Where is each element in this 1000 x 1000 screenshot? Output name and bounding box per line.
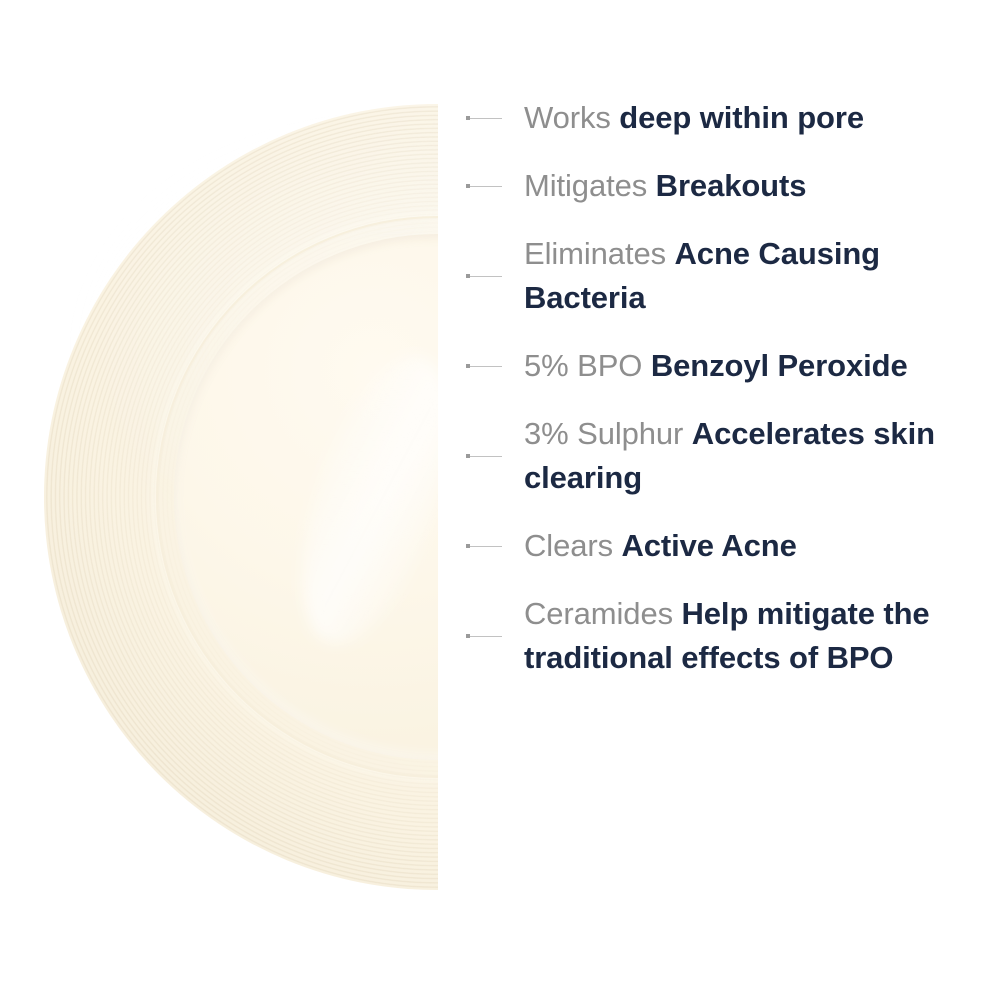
feature-label: Works — [524, 100, 611, 135]
feature-label: Ceramides — [524, 596, 673, 631]
product-benefits-infographic: Works deep within pore Mitigates Breakou… — [0, 0, 1000, 1000]
feature-item: Works deep within pore — [460, 96, 1000, 140]
feature-text: Ceramides Help mitigate the traditional … — [524, 592, 1000, 680]
feature-text: 3% Sulphur Accelerates skin clearing — [524, 412, 1000, 500]
feature-value: deep within pore — [619, 100, 864, 135]
feature-text: Works deep within pore — [524, 96, 1000, 140]
dash-marker-icon — [460, 630, 502, 642]
feature-text: Mitigates Breakouts — [524, 164, 1000, 208]
jar-specular-highlight — [272, 338, 438, 660]
dash-marker-icon — [460, 112, 502, 124]
dash-marker-icon — [460, 270, 502, 282]
dash-marker-icon — [460, 360, 502, 372]
feature-item: 5% BPO Benzoyl Peroxide — [460, 344, 1000, 388]
feature-label: Clears — [524, 528, 613, 563]
feature-text: Clears Active Acne — [524, 524, 1000, 568]
feature-text: 5% BPO Benzoyl Peroxide — [524, 344, 1000, 388]
dash-marker-icon — [460, 180, 502, 192]
dash-marker-icon — [460, 450, 502, 462]
feature-label: Mitigates — [524, 168, 647, 203]
feature-text: Eliminates Acne Causing Bacteria — [524, 232, 1000, 320]
feature-item: Ceramides Help mitigate the traditional … — [460, 592, 1000, 680]
feature-item: Eliminates Acne Causing Bacteria — [460, 232, 1000, 320]
feature-item: 3% Sulphur Accelerates skin clearing — [460, 412, 1000, 500]
product-image-stage — [0, 0, 438, 1000]
feature-item: Mitigates Breakouts — [460, 164, 1000, 208]
feature-label: Eliminates — [524, 236, 666, 271]
feature-item: Clears Active Acne — [460, 524, 1000, 568]
feature-value: Benzoyl Peroxide — [651, 348, 908, 383]
feature-value: Breakouts — [656, 168, 807, 203]
feature-value: Active Acne — [622, 528, 797, 563]
feature-label: 3% Sulphur — [524, 416, 683, 451]
dash-marker-icon — [460, 540, 502, 552]
feature-list: Works deep within pore Mitigates Breakou… — [460, 0, 1000, 1000]
product-jar-image — [44, 104, 438, 890]
feature-label: 5% BPO — [524, 348, 642, 383]
